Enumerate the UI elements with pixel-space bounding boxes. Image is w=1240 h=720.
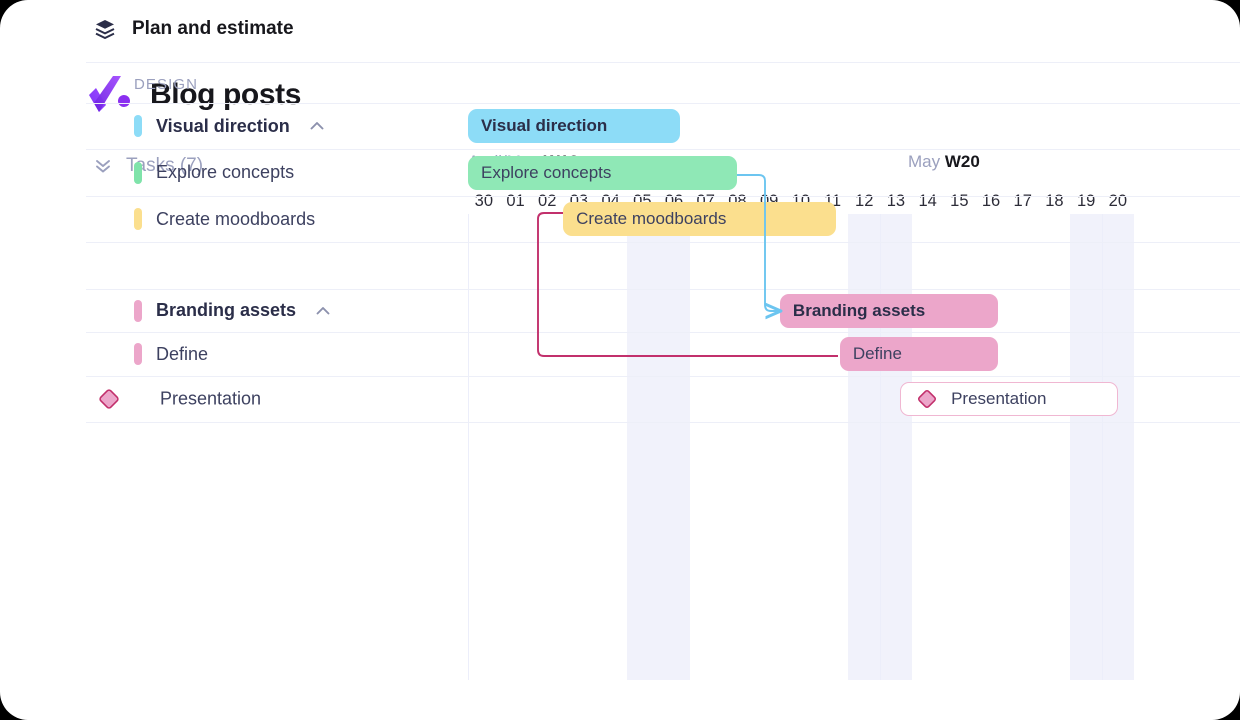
task-rows: Plan and estimateDESIGNVisual directionV… <box>0 0 1240 466</box>
task-row-left: Visual direction <box>86 103 326 149</box>
task-row[interactable]: Branding assetsBranding assets <box>0 289 1240 332</box>
row-separator <box>86 62 1240 63</box>
group-title: Plan and estimate <box>132 18 294 40</box>
task-row[interactable]: Visual directionVisual direction <box>0 103 1240 149</box>
row-separator <box>86 422 1240 423</box>
gantt-milestone-presentation[interactable]: Presentation <box>900 382 1118 416</box>
task-row-left: Branding assets <box>86 289 332 332</box>
task-color-pill <box>134 162 142 184</box>
layers-icon <box>94 18 116 40</box>
spacer-row <box>0 242 1240 289</box>
gantt-bar-label: Visual direction <box>481 116 607 136</box>
section-label-design: DESIGN <box>134 76 198 93</box>
gantt-bar-label: Branding assets <box>793 301 925 321</box>
app-card: Blog posts Tasks (7) April/May W18 May W… <box>0 0 1240 720</box>
task-row-left: Create moodboards <box>86 196 315 242</box>
task-color-pill <box>134 343 142 365</box>
gantt-bar-create-moodboards[interactable]: Create moodboards <box>563 202 836 236</box>
task-label: Presentation <box>160 389 261 410</box>
gantt-bar-label: Explore concepts <box>481 163 611 183</box>
task-row-left: Explore concepts <box>86 149 294 196</box>
gantt-bar-label: Create moodboards <box>576 209 726 229</box>
task-label: Visual direction <box>156 116 290 137</box>
diamond-milestone-icon <box>96 386 122 412</box>
task-color-pill <box>134 208 142 230</box>
gantt-bar-define[interactable]: Define <box>840 337 999 371</box>
task-label: Explore concepts <box>156 162 294 183</box>
chevron-up-icon[interactable] <box>308 117 326 135</box>
task-row[interactable]: PresentationPresentation <box>0 376 1240 422</box>
task-color-pill <box>134 115 142 137</box>
group-header-plan-and-estimate[interactable]: Plan and estimate <box>94 18 294 40</box>
gantt-bar-label: Presentation <box>951 389 1046 409</box>
gantt-bar-label: Define <box>853 344 902 364</box>
gantt-bar-visual-direction[interactable]: Visual direction <box>468 109 680 143</box>
diamond-milestone-icon <box>915 387 939 411</box>
task-row[interactable]: DefineDefine <box>0 332 1240 376</box>
task-label: Branding assets <box>156 300 296 321</box>
task-row[interactable]: Create moodboardsCreate moodboards <box>0 196 1240 242</box>
task-row-left: Define <box>86 332 208 376</box>
task-row[interactable]: Explore conceptsExplore concepts <box>0 149 1240 196</box>
gantt-bar-explore-concepts[interactable]: Explore concepts <box>468 156 737 190</box>
gantt-bar-branding-assets[interactable]: Branding assets <box>780 294 998 328</box>
chevron-up-icon[interactable] <box>314 302 332 320</box>
task-color-pill <box>134 300 142 322</box>
task-label: Define <box>156 344 208 365</box>
task-label: Create moodboards <box>156 209 315 230</box>
